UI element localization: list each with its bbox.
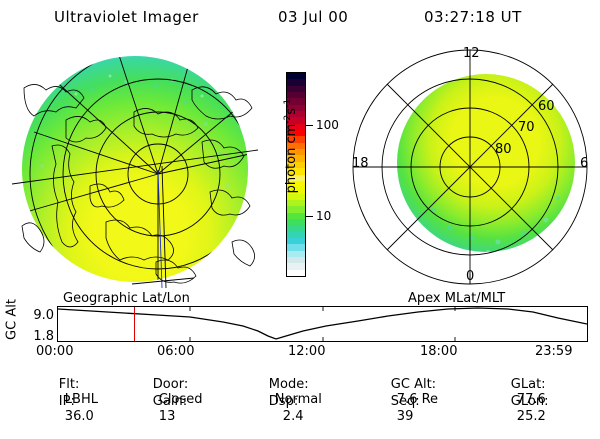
geographic-overlay xyxy=(6,46,264,288)
orbit-altitude-plot[interactable] xyxy=(57,306,588,342)
apex-label-mlat-60: 60 xyxy=(538,100,555,113)
orbit-x-tick-2: 12:00 xyxy=(288,345,325,358)
apex-label-mlt-06: 6 xyxy=(580,157,588,170)
orbit-x-tick-1: 06:00 xyxy=(157,345,194,358)
colorbar-axis: 100 10 xyxy=(306,72,342,277)
apex-panel-caption: Apex MLat/MLT xyxy=(408,291,505,306)
colorbar-tick-label-10: 10 xyxy=(316,210,331,222)
page-title: Ultraviolet Imager xyxy=(54,8,199,26)
colorbar-axis-title: photon cm-2s-1 xyxy=(283,71,299,221)
orbit-track-curve xyxy=(58,307,587,341)
colorbar-title-sup1: -2 xyxy=(283,115,293,124)
orbit-y-axis-label: GC Alt xyxy=(4,298,20,346)
status-dsp-value: 2.4 xyxy=(283,409,304,424)
status-ip-value: 36.0 xyxy=(65,409,94,424)
status-block: Flt: LBHL Door: Closed Mode: Normal GC A… xyxy=(0,362,600,398)
observation-time: 03:27:18 UT xyxy=(424,8,522,26)
orbit-x-tick-4: 23:59 xyxy=(535,345,572,358)
status-gain-value: 13 xyxy=(159,409,176,424)
apex-label-mlt-18: 18 xyxy=(352,157,369,170)
status-seq-label: Seq: xyxy=(391,394,420,409)
geographic-image-panel[interactable] xyxy=(6,46,264,288)
colorbar-title-mid: s xyxy=(284,108,299,115)
colorbar-title-sup2: -1 xyxy=(283,99,293,108)
header-bar: Ultraviolet Imager 03 Jul 00 03:27:18 UT xyxy=(0,6,600,30)
colorbar-tick-100 xyxy=(306,125,313,126)
orbit-x-tick-3: 18:00 xyxy=(420,345,457,358)
orbit-x-tick-0: 00:00 xyxy=(36,345,73,358)
apex-overlay xyxy=(342,46,598,288)
orbit-time-marker xyxy=(134,307,135,341)
status-glon: GLon: 25.2 xyxy=(486,379,548,439)
status-glon-value: 25.2 xyxy=(517,409,546,424)
status-dsp: Dsp: 2.4 xyxy=(244,379,303,439)
colorbar-tick-10 xyxy=(306,216,313,217)
orbit-y-axis-label-text: GC Alt xyxy=(5,298,20,342)
geographic-panel-caption: Geographic Lat/Lon xyxy=(63,291,190,306)
colorbar-band-31 xyxy=(287,270,305,276)
apex-label-mlat-70: 70 xyxy=(518,121,535,134)
orbit-y-tick-high: 9.0 xyxy=(20,309,54,322)
status-ip-label: IP: xyxy=(59,394,75,409)
apex-polar-panel[interactable]: 12 18 6 0 60 70 80 xyxy=(342,46,598,288)
apex-label-mlat-80: 80 xyxy=(495,143,512,156)
status-gain: Gain: 13 xyxy=(128,379,187,439)
colorbar-title-text: photon cm xyxy=(284,124,299,194)
apex-label-mlt-00: 0 xyxy=(466,270,474,283)
colorbar: 100 10 photon cm-2s-1 xyxy=(268,46,342,288)
status-ip: IP: 36.0 xyxy=(34,379,94,439)
status-dsp-label: Dsp: xyxy=(269,394,298,409)
status-seq-value: 39 xyxy=(397,409,414,424)
observation-date: 03 Jul 00 xyxy=(278,8,348,26)
colorbar-tick-label-100: 100 xyxy=(316,119,339,131)
orbit-y-tick-low: 1.8 xyxy=(20,330,54,343)
status-seq: Seq: 39 xyxy=(366,379,420,439)
status-glon-label: GLon: xyxy=(511,394,549,409)
apex-label-mlt-12: 12 xyxy=(463,47,480,60)
status-gain-label: Gain: xyxy=(153,394,187,409)
